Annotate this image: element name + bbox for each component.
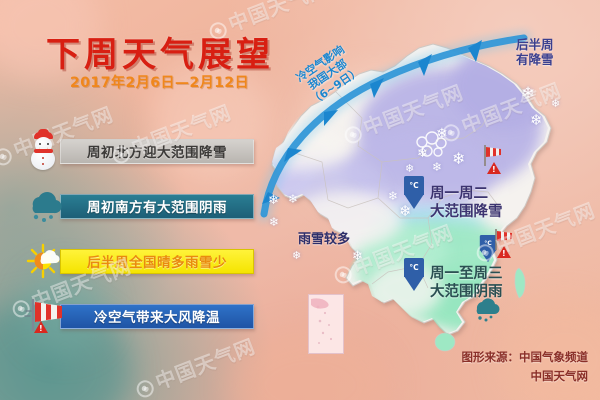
rain-cloud-svg [470, 295, 500, 323]
taiwan-island [515, 268, 525, 298]
wind-warning-icon [34, 321, 48, 333]
temp-drop-badge-south: °C [404, 258, 424, 277]
sun-cloud-svg [23, 243, 67, 279]
snowflake-icon: ❄ [268, 194, 279, 207]
snowflake-icon: ❄ [399, 204, 412, 219]
rain-cloud-icon [22, 186, 68, 226]
source-line-2: 中国天气网 [462, 367, 589, 386]
sun-cloud-figure [23, 243, 67, 279]
snowman-button [42, 163, 44, 165]
wind-warning-icon-northeast [487, 162, 501, 174]
west-precip-label: 雨雪较多 [298, 232, 350, 248]
legend-item-rain[interactable]: 周初南方有大范围阴雨 [22, 189, 254, 223]
wind-warning-icon-east [497, 246, 511, 258]
legend-bar-sun[interactable]: 后半周全国晴多雨雪少 [60, 249, 254, 274]
hainan-island [435, 333, 455, 351]
legend-label-cold: 冷空气带来大风降温 [94, 306, 220, 326]
snowflake-icon: ❄ [288, 193, 298, 205]
infographic-canvas: 冷空气影响 我国大部 （6~9日） 后半周 有降雪 周一周二 大范围降雪 周一至… [0, 0, 600, 400]
source-line-1: 图形来源：中国气象频道 [462, 348, 589, 367]
temp-drop-arrow-south: °C [404, 258, 424, 292]
legend-label-sun: 后半周全国晴多雨雪少 [87, 251, 227, 271]
snowman-button [42, 157, 44, 159]
snowflake-icon: ❄ [530, 113, 543, 128]
legend-item-sun[interactable]: 后半周全国晴多雨雪少 [22, 244, 254, 278]
snowflake-icon: ❄ [388, 190, 398, 202]
snowman-scarf [34, 149, 53, 153]
legend-bar-snow[interactable]: 周初北方迎大范围降雪 [60, 139, 254, 164]
legend-item-snow[interactable]: 周初北方迎大范围降雪 [22, 134, 254, 168]
inset-svg [309, 295, 343, 353]
snowflake-icon: ❄ [352, 250, 363, 263]
snowman-eye-left [39, 143, 41, 145]
snow-cloud-svg [412, 130, 456, 164]
snowman-eye-right [47, 143, 49, 145]
north-snow-label: 周一周二 大范围降雪 [430, 186, 503, 221]
legend-bar-cold[interactable]: 冷空气带来大风降温 [60, 304, 254, 329]
northeast-snow-label: 后半周 有降雪 [516, 37, 554, 68]
legend-bar-rain[interactable]: 周初南方有大范围阴雨 [60, 194, 254, 219]
legend-panel: 周初北方迎大范围降雪 周初南方有大范围阴雨 [22, 134, 254, 354]
page-subtitle: 2017年2月6日—2月12日 [70, 72, 249, 92]
legend-label-rain: 周初南方有大范围阴雨 [87, 196, 227, 216]
sun-cloud-icon [22, 241, 68, 281]
legend-item-cold[interactable]: 冷空气带来大风降温 [22, 299, 254, 333]
snow-cloud-cluster-icon [412, 130, 456, 168]
temp-drop-badge-north: °C [404, 176, 424, 195]
page-title: 下周天气展望 [46, 27, 274, 76]
windsock-icon [22, 296, 68, 336]
snowman-figure [26, 131, 60, 171]
snowflake-icon: ❄ [292, 250, 301, 261]
source-credit: 图形来源：中国气象频道 中国天气网 [462, 348, 589, 386]
rain-cloud-figure [25, 189, 65, 223]
rain-cloud-svg [25, 189, 65, 223]
temp-drop-arrow-tip-south [404, 276, 424, 291]
snowman-icon [22, 131, 68, 171]
legend-label-snow: 周初北方迎大范围降雪 [87, 141, 227, 161]
snowflake-icon: ❄ [551, 98, 560, 109]
snowflake-icon: ❄ [521, 86, 535, 103]
south-china-sea-inset [308, 294, 344, 354]
snowflake-icon: ❄ [269, 216, 279, 228]
rain-cloud-icon-map [470, 295, 500, 323]
windsock-figure [24, 297, 68, 335]
